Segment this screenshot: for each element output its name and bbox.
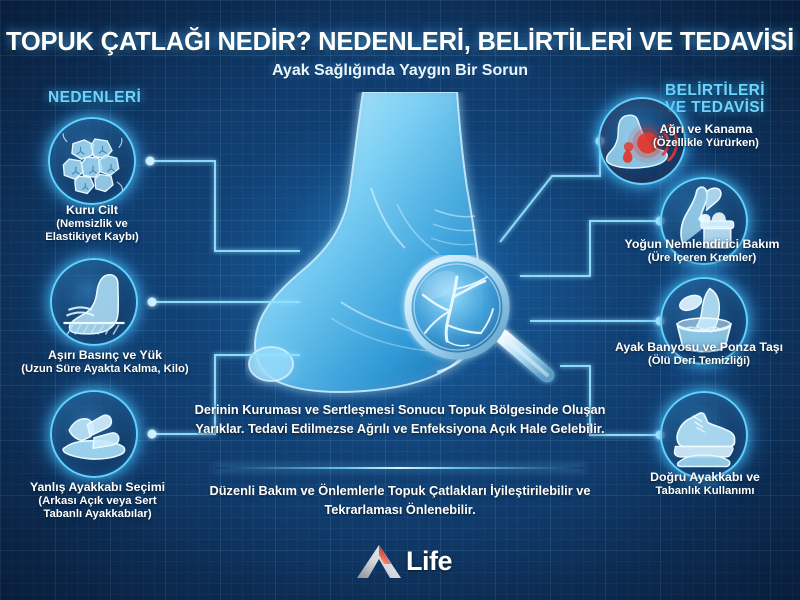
sneaker-insole-icon — [660, 391, 748, 479]
label-sub: (Üre İçeren Kremler) — [604, 252, 800, 265]
label-text: Kuru Cilt — [66, 203, 118, 217]
page-title: TOPUK ÇATLAĞI NEDİR? NEDENLERİ, BELİRTİL… — [0, 28, 800, 57]
foot-pressure-icon — [50, 258, 138, 346]
magnifying-glass-icon — [395, 255, 565, 385]
page-subtitle: Ayak Sağlığında Yaygın Bir Sorun — [0, 62, 800, 80]
label-text: Yanlış Ayakkabı Seçimi — [30, 480, 165, 494]
label-sub: (Özellikle Yürürken) — [612, 137, 800, 150]
label-sub: (Arkası Açık veya Sert Tabanlı Ayakkabıl… — [0, 495, 195, 522]
label-sub: Tabanlık Kullanımı — [610, 485, 800, 498]
label-text: Ayak Banyosu ve Ponza Taşı — [615, 340, 783, 354]
brand-logo[interactable]: Life — [355, 543, 452, 579]
symptom-label-pain: Ağrı ve Kanama (Özellikle Yürürken) — [612, 122, 800, 150]
section-divider — [215, 467, 585, 469]
a-triangle-logo-mark — [355, 543, 403, 579]
summary-paragraph-definition: Derinin Kuruması ve Sertleşmesi Sonucu T… — [190, 401, 610, 439]
label-sub: (Nemsizlik ve Elastikiyet Kaybı) — [2, 218, 182, 245]
treatment-label-proper-shoes: Doğru Ayakkabı ve Tabanlık Kullanımı — [610, 470, 800, 498]
label-text: Doğru Ayakkabı ve — [650, 470, 760, 484]
label-text: Yoğun Nemlendirici Bakım — [625, 237, 780, 251]
label-text: Aşırı Basınç ve Yük — [48, 348, 162, 362]
cause-label-pressure: Aşırı Basınç ve Yük (Uzun Süre Ayakta Ka… — [0, 348, 210, 376]
cause-label-wrong-shoes: Yanlış Ayakkabı Seçimi (Arkası Açık veya… — [0, 480, 195, 521]
treatment-label-moisturizer: Yoğun Nemlendirici Bakım (Üre İçeren Kre… — [604, 237, 800, 265]
left-column-heading: NEDENLERİ — [48, 89, 141, 106]
sandal-icon — [50, 390, 138, 478]
infographic-canvas: TOPUK ÇATLAĞI NEDİR? NEDENLERİ, BELİRTİL… — [0, 0, 800, 600]
label-sub: (Uzun Süre Ayakta Kalma, Kilo) — [0, 363, 210, 376]
skin-cells-icon — [48, 117, 136, 205]
label-text: Ağrı ve Kanama — [660, 122, 753, 136]
label-sub: (Ölü Deri Temizliği) — [598, 355, 800, 368]
treatment-label-foot-bath: Ayak Banyosu ve Ponza Taşı (Ölü Deri Tem… — [598, 340, 800, 368]
cause-label-dry-skin: Kuru Cilt (Nemsizlik ve Elastikiyet Kayb… — [2, 203, 182, 244]
logo-text: Life — [406, 546, 452, 577]
summary-paragraph-prevention: Düzenli Bakım ve Önlemlerle Topuk Çatlak… — [190, 482, 610, 520]
